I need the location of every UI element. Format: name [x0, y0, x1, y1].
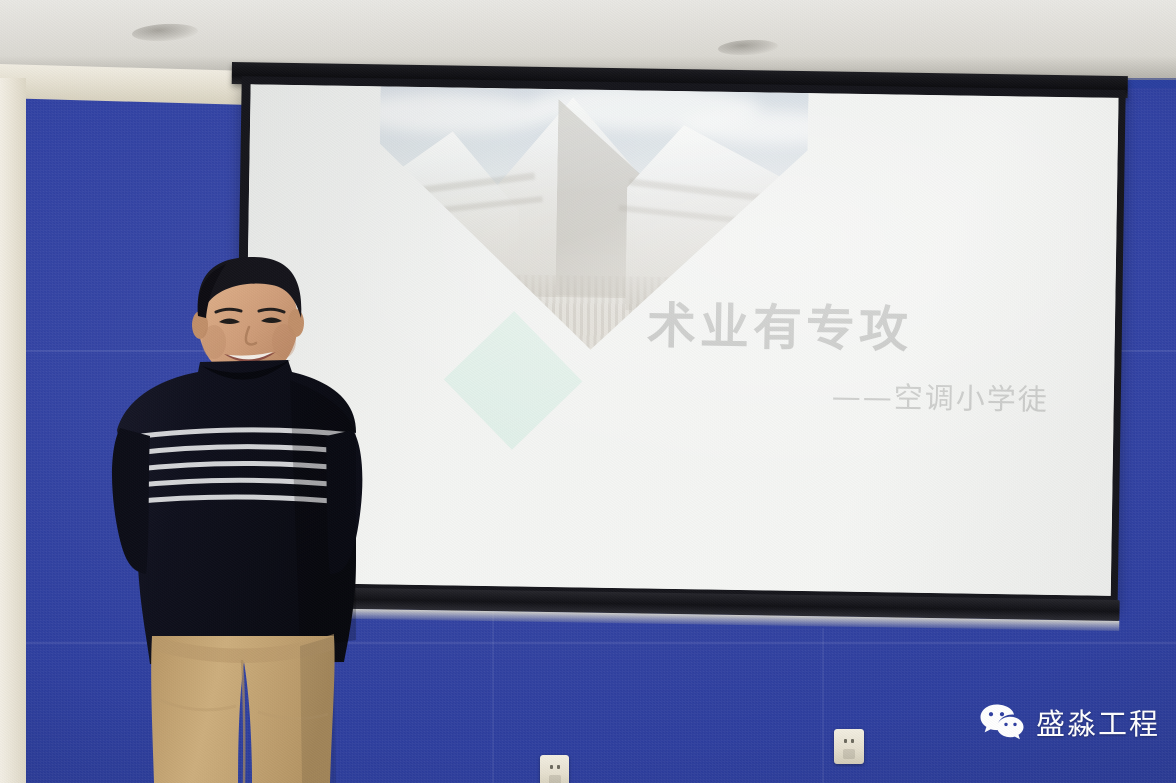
wall-socket-left — [540, 755, 569, 783]
slide-title: 术业有专攻 — [646, 287, 912, 362]
watermark: 盛淼工程 — [979, 701, 1160, 743]
presentation-slide: 术业有专攻 ——空调小学徒 — [243, 84, 1119, 596]
wall-trim-left — [0, 78, 26, 783]
projection-screen: 术业有专攻 ——空调小学徒 — [223, 62, 1128, 632]
socket-holes — [844, 739, 854, 743]
socket-lower-plate — [843, 749, 855, 759]
watermark-text: 盛淼工程 — [1036, 701, 1160, 743]
socket-lower-plate — [549, 775, 561, 783]
wall-socket-right — [834, 729, 864, 764]
photo-scene: 术业有专攻 ——空调小学徒 — [0, 0, 1176, 783]
wall-panel-seam — [822, 628, 824, 783]
projection-screen-surface: 术业有专攻 ——空调小学徒 — [243, 84, 1119, 596]
socket-holes — [550, 765, 560, 769]
slide-subtitle: ——空调小学徒 — [832, 373, 1050, 418]
slide-diamond-accent — [444, 311, 583, 450]
wechat-icon — [979, 702, 1025, 742]
wall-panel-seam — [22, 642, 1176, 644]
